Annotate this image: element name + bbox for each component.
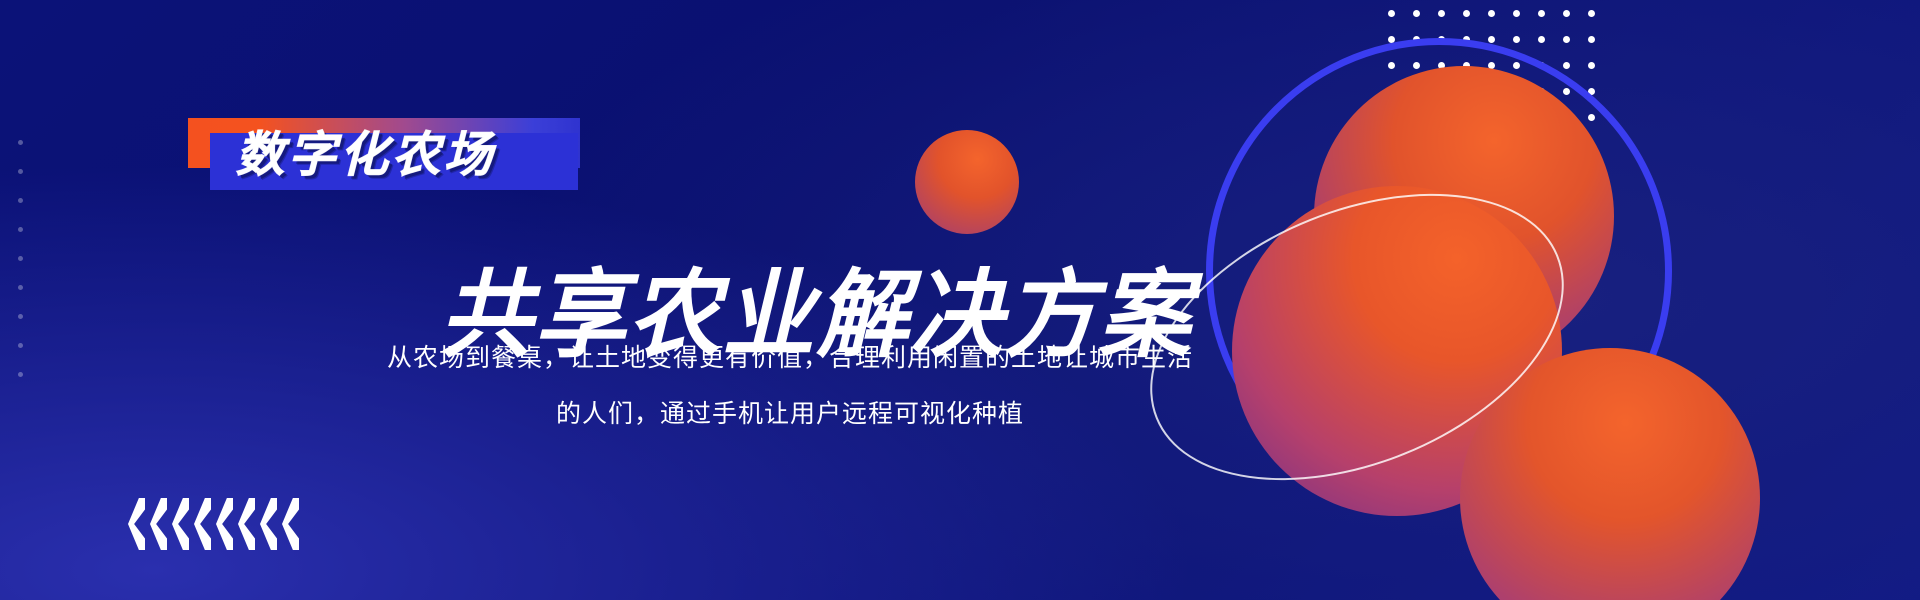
edge-dot xyxy=(18,169,23,174)
category-tag: 数字化农场 xyxy=(188,118,588,198)
hero-banner: 数字化农场 共享农业解决方案 从农场到餐桌，让土地变得更有价值，合理利用闲置的土… xyxy=(0,0,1920,600)
edge-dot xyxy=(18,227,23,232)
chevron-left-icon xyxy=(260,498,277,550)
grid-dot xyxy=(1538,36,1545,43)
grid-dot xyxy=(1563,36,1570,43)
grid-dot xyxy=(1438,10,1445,17)
edge-dot xyxy=(18,314,23,319)
grid-dot xyxy=(1563,62,1570,69)
subtitle-line-1: 从农场到餐桌，让土地变得更有价值，合理利用闲置的土地让城市生活 xyxy=(330,330,1250,386)
grid-dot xyxy=(1463,10,1470,17)
subtitle-block: 从农场到餐桌，让土地变得更有价值，合理利用闲置的土地让城市生活 的人们，通过手机… xyxy=(330,330,1250,442)
edge-dot xyxy=(18,285,23,290)
tag-label: 数字化农场 xyxy=(236,128,496,184)
subtitle-line-2: 的人们，通过手机让用户远程可视化种植 xyxy=(330,386,1250,442)
chevron-arrows-decoration xyxy=(128,498,299,550)
edge-dot xyxy=(18,256,23,261)
chevron-left-icon xyxy=(238,498,255,550)
edge-dot xyxy=(18,343,23,348)
chevron-left-icon xyxy=(216,498,233,550)
edge-dot xyxy=(18,372,23,377)
chevron-left-icon xyxy=(150,498,167,550)
grid-dot xyxy=(1413,10,1420,17)
grid-dot xyxy=(1588,10,1595,17)
edge-dot xyxy=(18,198,23,203)
grid-dot xyxy=(1513,10,1520,17)
grid-dot xyxy=(1588,36,1595,43)
grid-dot xyxy=(1488,36,1495,43)
chevron-left-icon xyxy=(128,498,145,550)
left-dot-column xyxy=(18,140,23,380)
chevron-left-icon xyxy=(282,498,299,550)
grid-dot xyxy=(1488,10,1495,17)
orange-sphere-small xyxy=(915,130,1019,234)
chevron-left-icon xyxy=(194,498,211,550)
grid-dot xyxy=(1563,10,1570,17)
chevron-left-icon xyxy=(172,498,189,550)
grid-dot xyxy=(1538,10,1545,17)
grid-dot xyxy=(1513,36,1520,43)
edge-dot xyxy=(18,140,23,145)
grid-dot xyxy=(1388,10,1395,17)
grid-dot xyxy=(1588,62,1595,69)
